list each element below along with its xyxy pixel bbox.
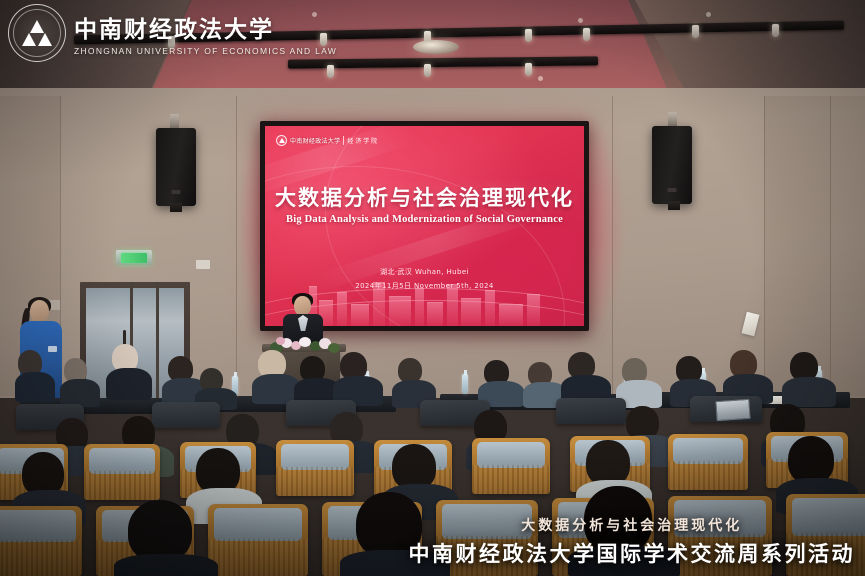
ceiling-spotlight xyxy=(327,65,334,78)
auditorium-seat[interactable] xyxy=(0,506,82,576)
audience-member xyxy=(622,358,658,402)
ceiling-fixture xyxy=(706,12,711,17)
university-seal-logo-icon xyxy=(8,4,66,62)
caption-line-2: 中南财经政法大学国际学术交流周系列活动 xyxy=(409,538,856,568)
auditorium-seat[interactable] xyxy=(276,440,354,496)
audience-member xyxy=(340,352,378,402)
audience-member xyxy=(128,500,208,576)
auditorium-seat[interactable] xyxy=(472,438,550,494)
audience-member xyxy=(788,436,848,500)
audience-member xyxy=(790,352,830,402)
exit-sign xyxy=(116,250,152,265)
brand-name-en: ZHONGNAN UNIVERSITY OF ECONOMICS AND LAW xyxy=(74,46,337,56)
ceiling-spotlight xyxy=(692,25,699,38)
audience-member xyxy=(528,362,562,402)
caption-overlay: 大数据分析与社会治理现代化 中南财经政法大学国际学术交流周系列活动 xyxy=(409,515,856,568)
lecture-hall-photo: 中南财经政法大学 经 济 学 院 大数据分析与社会治理现代化 Big Data … xyxy=(0,0,865,576)
water-bottle xyxy=(462,374,468,394)
audience-member xyxy=(568,352,606,402)
staff-head xyxy=(30,300,49,323)
wall-panel xyxy=(764,96,865,396)
wall-speaker-left xyxy=(156,128,196,206)
audience-member xyxy=(200,368,232,402)
ceiling-spotlight xyxy=(525,29,532,42)
auditorium-seat[interactable] xyxy=(556,398,626,424)
slide-title-en: Big Data Analysis and Modernization of S… xyxy=(265,214,584,225)
ceiling-spotlight xyxy=(583,28,590,41)
audience-member xyxy=(22,452,78,512)
audience-member xyxy=(18,350,52,398)
auditorium-seat[interactable] xyxy=(208,504,308,576)
slide-logo-divider xyxy=(343,136,344,145)
slide-university-seal-icon xyxy=(276,135,287,146)
auditorium-seat[interactable] xyxy=(668,434,748,490)
wall-sign xyxy=(196,260,210,269)
ceiling-spotlight xyxy=(424,64,431,77)
slide-logo: 中南财经政法大学 经 济 学 院 xyxy=(276,135,377,146)
audience-member xyxy=(398,358,432,402)
audience-member xyxy=(300,356,336,402)
wall-speaker-right xyxy=(652,126,692,204)
slide-title-cn: 大数据分析与社会治理现代化 xyxy=(265,182,584,212)
door-mullion xyxy=(156,282,159,398)
caption-line-1: 大数据分析与社会治理现代化 xyxy=(409,515,856,535)
audience-member xyxy=(112,344,148,396)
audience-member xyxy=(64,358,98,400)
slide-logo-school-name: 经 济 学 院 xyxy=(347,136,377,145)
ceiling-fixture xyxy=(578,18,583,23)
audience-member xyxy=(730,350,768,402)
exit-sign-glow xyxy=(121,253,147,263)
wall-seam xyxy=(236,96,237,396)
ceiling-dome-light xyxy=(413,40,459,54)
brand-name-cn: 中南财经政法大学 xyxy=(74,10,337,44)
laptop[interactable] xyxy=(715,399,750,421)
audience-member xyxy=(258,350,296,400)
ceiling-spotlight xyxy=(772,24,779,37)
ceiling-spotlight xyxy=(525,63,532,76)
auditorium-seat[interactable] xyxy=(84,444,160,500)
speaker-foot-right xyxy=(668,201,680,210)
presenter-head xyxy=(294,296,311,316)
slide-logo-university-name: 中南财经政法大学 xyxy=(290,136,340,145)
audience-member xyxy=(484,360,520,402)
speaker-foot-left xyxy=(170,203,182,212)
brand-overlay: 中南财经政法大学 ZHONGNAN UNIVERSITY OF ECONOMIC… xyxy=(8,4,337,62)
ceiling-fixture xyxy=(538,76,543,81)
ceiling-panel-right xyxy=(635,0,865,100)
